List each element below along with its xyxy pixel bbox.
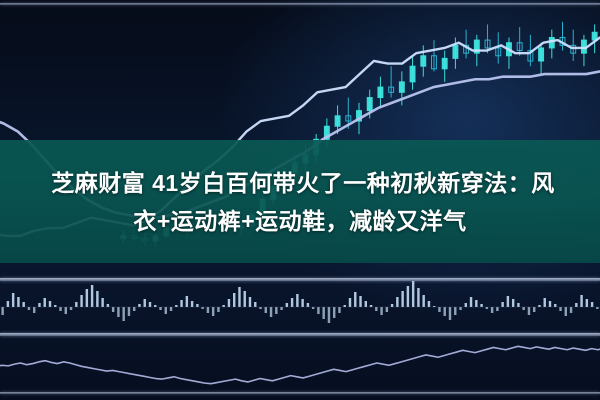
divider-line <box>0 333 600 336</box>
divider-macd <box>0 278 600 281</box>
oscillator-line-panel <box>0 336 600 394</box>
oscillator-line-plot <box>0 336 600 394</box>
macd-histogram-panel <box>0 280 600 334</box>
title-line-1: 芝麻财富 41岁白百何带火了一种初秋新穿法：风 <box>51 164 554 202</box>
divider-bottom <box>0 392 600 394</box>
divider-top <box>0 3 600 5</box>
macd-histogram-plot <box>0 280 600 334</box>
title-line-2: 衣+运动裤+运动鞋，减龄又洋气 <box>133 202 466 240</box>
screenshot-root: 芝麻财富 41岁白百何带火了一种初秋新穿法：风 衣+运动裤+运动鞋，减龄又洋气 <box>0 0 600 400</box>
title-block: 芝麻财富 41岁白百何带火了一种初秋新穿法：风 衣+运动裤+运动鞋，减龄又洋气 <box>0 140 600 263</box>
